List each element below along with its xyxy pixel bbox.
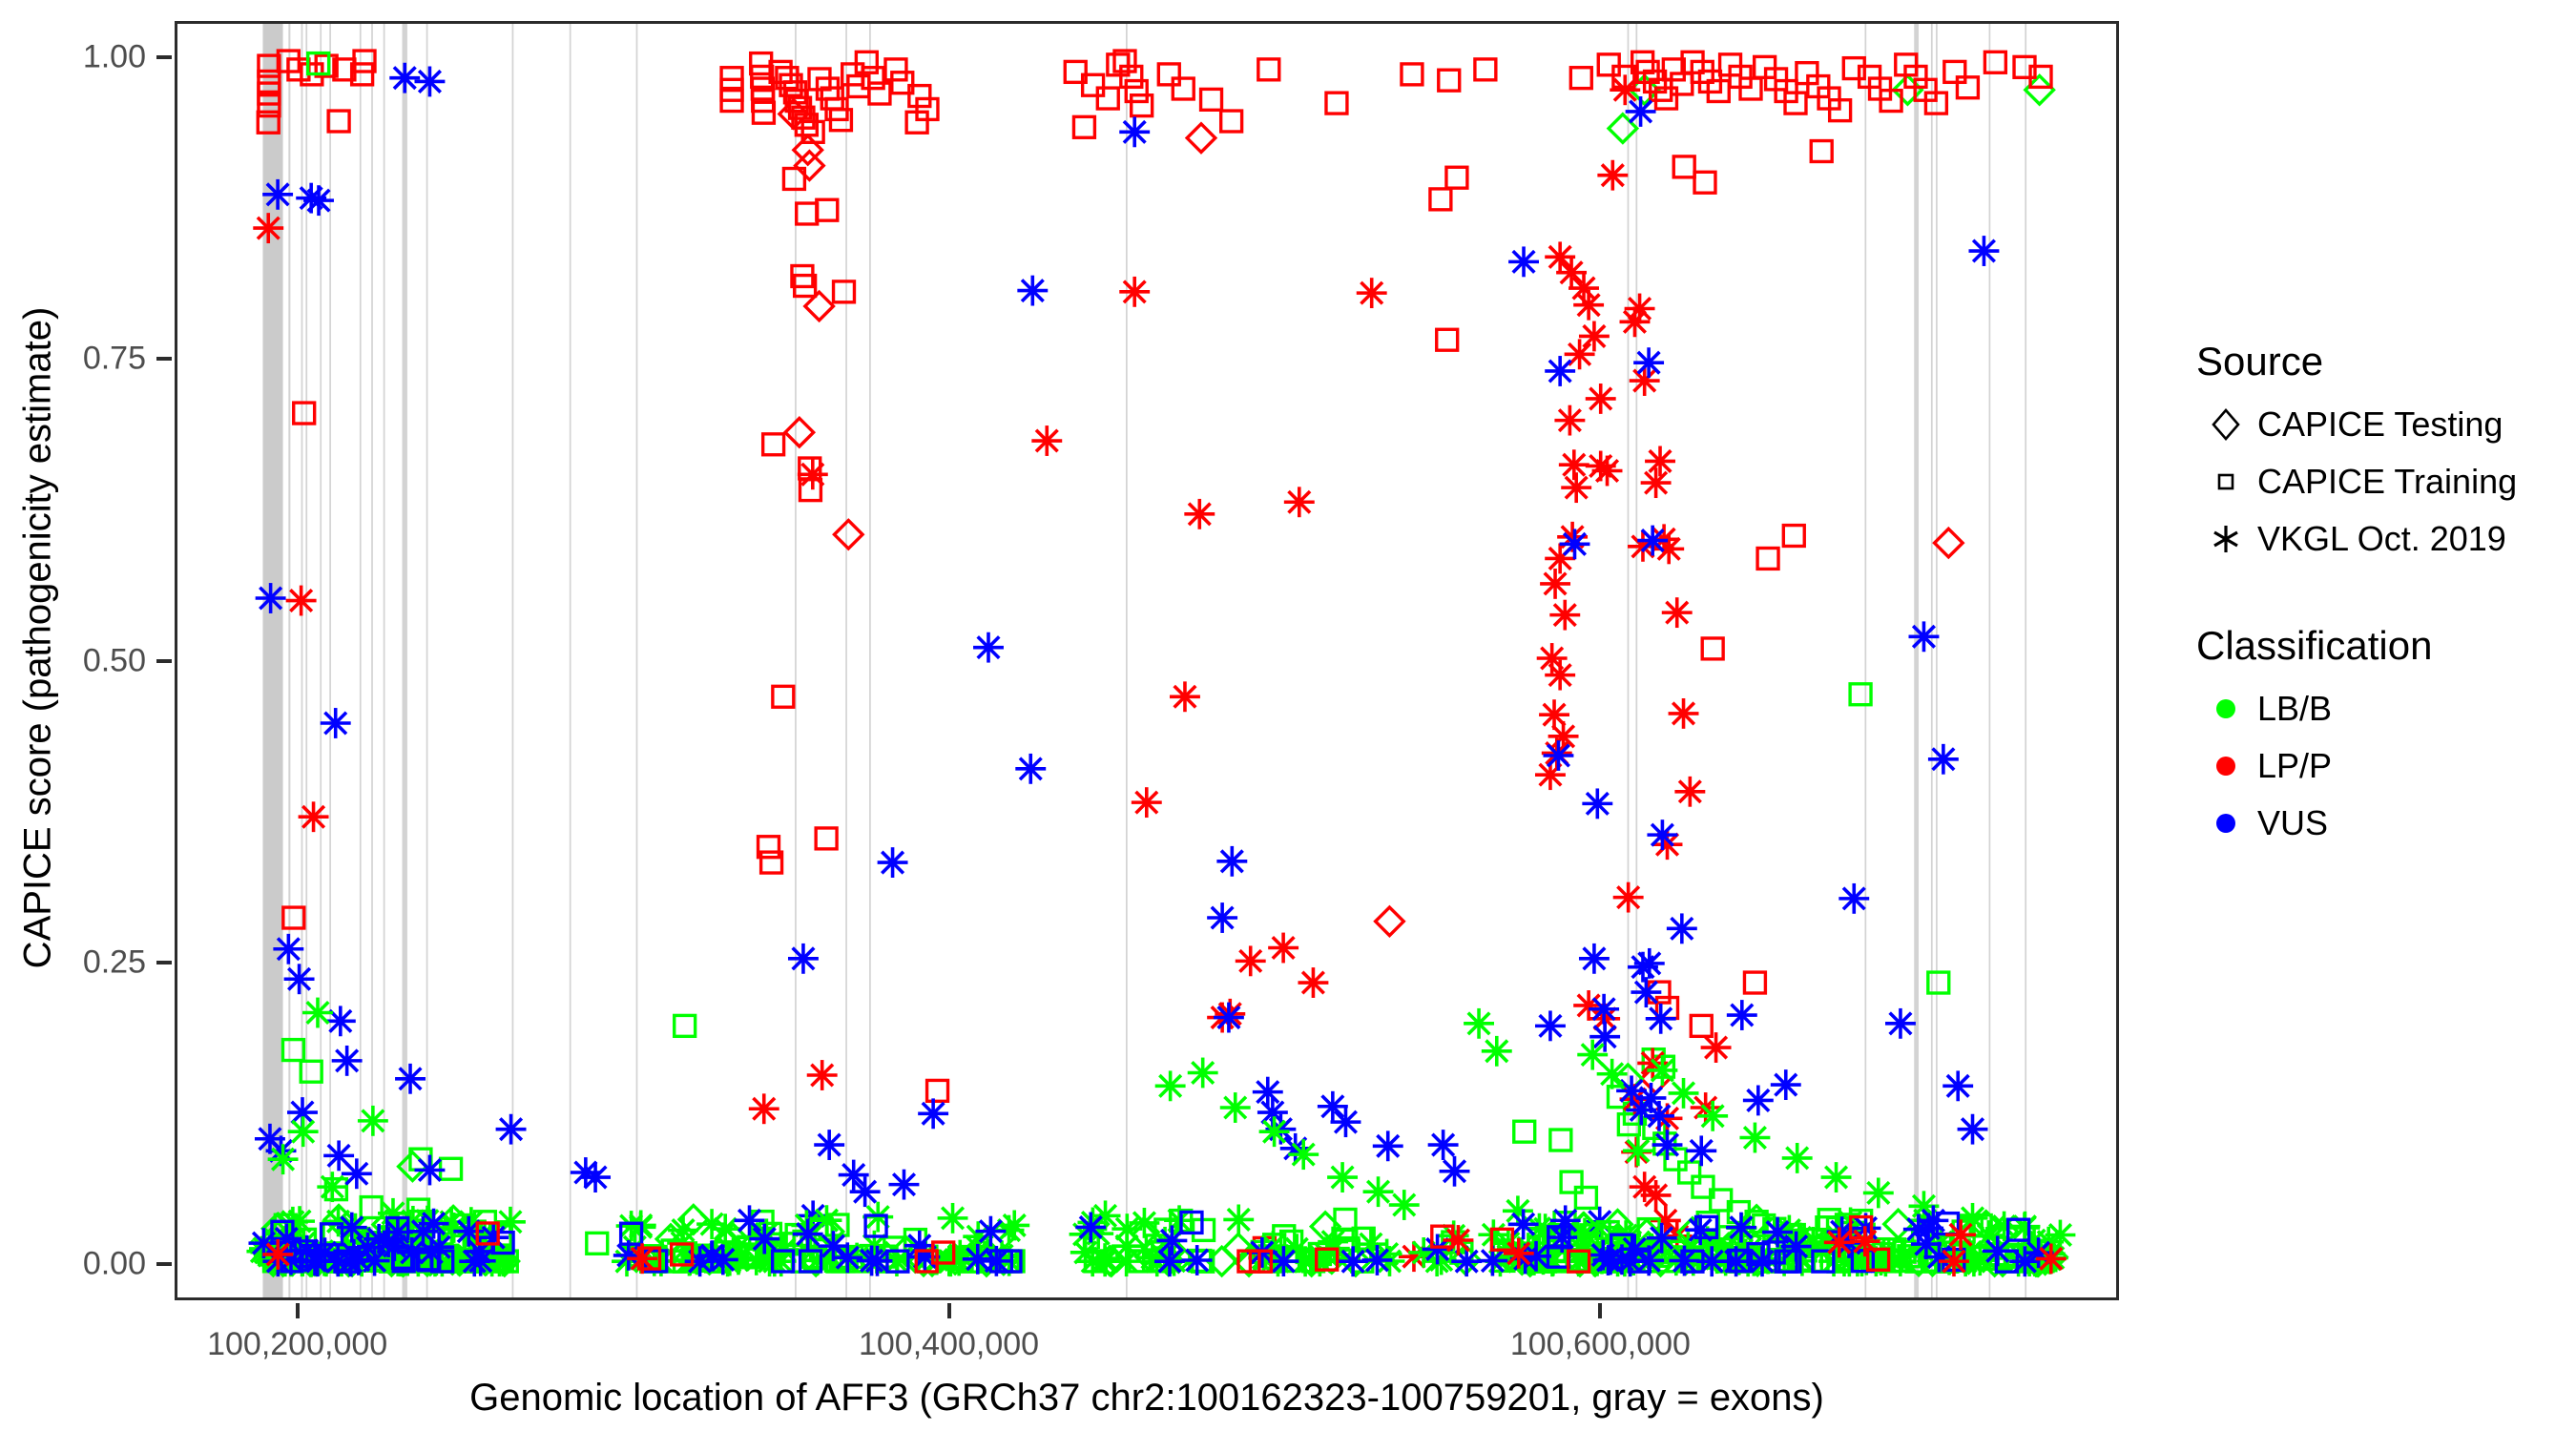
series-capice-testing-lp-p bbox=[779, 100, 1963, 1093]
legend-label-capice-training: CAPICE Training bbox=[2257, 462, 2517, 502]
series-vkgl-oct-2019-lp-p bbox=[253, 74, 1731, 1272]
chart-legend: Source CAPICE Testing CAPICE Training bbox=[2194, 339, 2566, 854]
legend-item-lb-b[interactable]: LB/B bbox=[2194, 682, 2566, 736]
legend-item-vus[interactable]: VUS bbox=[2194, 797, 2566, 850]
y-tick-mark bbox=[156, 961, 172, 964]
x-tick-mark bbox=[947, 1303, 951, 1318]
y-tick-mark bbox=[156, 357, 172, 361]
legend-label-vkgl: VKGL Oct. 2019 bbox=[2257, 519, 2506, 559]
legend-label-lp-p: LP/P bbox=[2257, 746, 2332, 786]
x-axis-title: Genomic location of AFF3 (GRCh37 chr2:10… bbox=[175, 1377, 2119, 1420]
y-tick-mark bbox=[156, 659, 172, 663]
series-capice-training-lp-p bbox=[258, 51, 2051, 1258]
plot-area bbox=[177, 24, 2116, 1297]
legend-title-source: Source bbox=[2196, 339, 2566, 384]
x-tick-mark bbox=[1598, 1303, 1602, 1318]
y-tick-label: 0.75 bbox=[0, 341, 146, 378]
data-points bbox=[246, 51, 2075, 1276]
legend-title-classification: Classification bbox=[2196, 623, 2566, 669]
plot-panel bbox=[175, 21, 2119, 1300]
legend-spacer bbox=[2194, 570, 2566, 623]
y-axis-title: CAPICE score (pathogenicity estimate) bbox=[17, 66, 60, 1211]
x-tick-label: 100,600,000 bbox=[1510, 1326, 1691, 1363]
y-tick-label: 0.00 bbox=[0, 1246, 146, 1283]
legend-label-capice-testing: CAPICE Testing bbox=[2257, 404, 2503, 445]
legend-item-lp-p[interactable]: LP/P bbox=[2194, 739, 2566, 793]
chart-root: CAPICE score (pathogenicity estimate) 0.… bbox=[0, 0, 2576, 1431]
legend-item-vkgl[interactable]: VKGL Oct. 2019 bbox=[2194, 512, 2566, 566]
blue-dot-icon bbox=[2194, 804, 2257, 842]
legend-label-vus: VUS bbox=[2257, 803, 2328, 843]
y-tick-label: 1.00 bbox=[0, 38, 146, 75]
scatter-points-layer bbox=[177, 24, 2116, 1297]
y-tick-label: 0.25 bbox=[0, 944, 146, 981]
y-tick-mark bbox=[156, 1262, 172, 1266]
legend-item-capice-testing[interactable]: CAPICE Testing bbox=[2194, 398, 2566, 451]
x-tick-label: 100,400,000 bbox=[859, 1326, 1039, 1363]
red-dot-icon bbox=[2194, 747, 2257, 785]
baseline-density-band bbox=[246, 1204, 2067, 1276]
square-icon bbox=[2194, 463, 2257, 501]
y-tick-label: 0.50 bbox=[0, 642, 146, 679]
x-tick-mark bbox=[296, 1303, 300, 1318]
y-tick-mark bbox=[156, 55, 172, 59]
x-tick-label: 100,200,000 bbox=[207, 1326, 387, 1363]
diamond-icon bbox=[2194, 405, 2257, 444]
asterisk-icon bbox=[2194, 520, 2257, 558]
legend-item-capice-training[interactable]: CAPICE Training bbox=[2194, 455, 2566, 508]
legend-label-lb-b: LB/B bbox=[2257, 689, 2332, 729]
green-dot-icon bbox=[2194, 690, 2257, 728]
